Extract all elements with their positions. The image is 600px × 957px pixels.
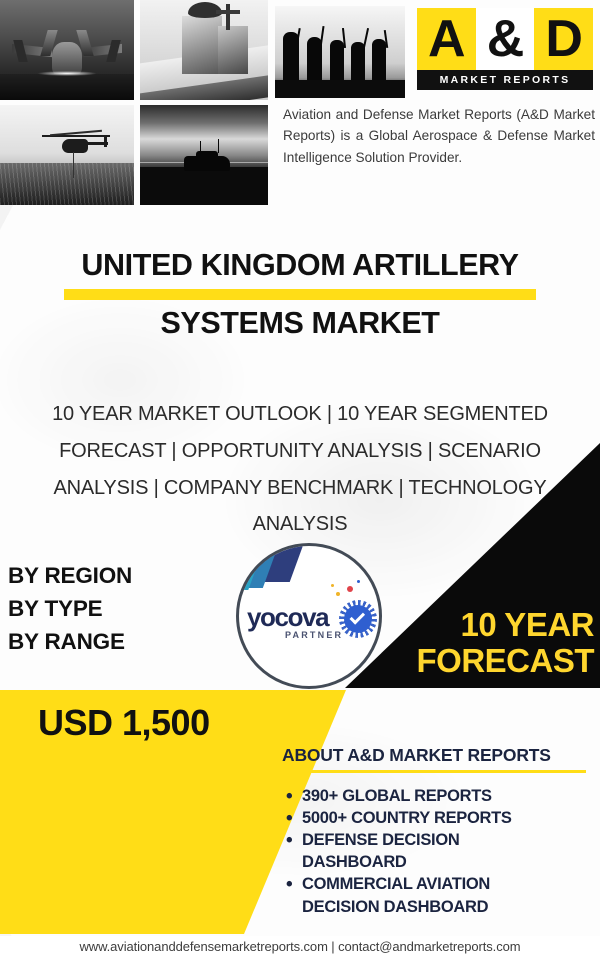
helicopter-tail-fin	[104, 135, 107, 147]
field-texture	[0, 163, 134, 205]
report-cover-poster: A & D MARKET REPORTS Aviation and Defens…	[0, 0, 600, 957]
segmentation-item-range: BY RANGE	[8, 626, 132, 659]
vehicle-antenna	[200, 141, 201, 152]
ad-market-reports-logo: A & D MARKET REPORTS	[417, 8, 593, 90]
deck-light-glow	[37, 71, 97, 76]
logo-letters-row: A & D	[417, 8, 593, 70]
about-bullet-commercial-aviation-cont: DECISION DASHBOARD	[282, 897, 592, 918]
ship-mast	[226, 4, 230, 30]
sparkle-dot	[331, 584, 334, 587]
about-bullet-country-reports: 5000+ COUNTRY REPORTS	[282, 808, 592, 829]
soldier-silhouette	[330, 40, 344, 84]
title-underline-rule	[64, 289, 536, 300]
check-mark	[350, 609, 366, 625]
seal-inner-disc	[344, 605, 372, 633]
footer-contact-bar: www.aviationanddefensemarketreports.com …	[0, 936, 600, 957]
soldier-silhouette	[283, 32, 299, 84]
carrier-deck	[0, 74, 134, 100]
yocova-partner-label: PARTNER	[285, 630, 343, 640]
photo-soldiers-silhouette-at-dusk	[275, 6, 405, 98]
vehicle-antenna	[218, 139, 219, 153]
ground	[140, 167, 268, 205]
sparkle-dot	[347, 586, 353, 592]
logo-tagline: MARKET REPORTS	[440, 74, 571, 86]
segmentation-item-region: BY REGION	[8, 560, 132, 593]
photo-armored-vehicle-at-dusk	[140, 105, 268, 205]
segmentation-item-type: BY TYPE	[8, 593, 132, 626]
logo-ampersand: &	[476, 8, 535, 70]
ship-yardarm	[216, 10, 240, 14]
helicopter-fuselage	[62, 139, 88, 153]
armored-vehicle-turret	[196, 151, 218, 158]
sparkle-dot	[357, 580, 360, 583]
yocova-wordmark: yocova	[247, 604, 339, 630]
photo-naval-warship-superstructure	[140, 0, 268, 100]
soldier-silhouette	[307, 37, 322, 84]
about-title: ABOUT A&D MARKET REPORTS	[282, 745, 592, 770]
ship-tower	[182, 16, 222, 74]
segmentation-list: BY REGION BY TYPE BY RANGE	[8, 560, 132, 659]
logo-tagline-bar: MARKET REPORTS	[417, 70, 593, 90]
ship-tower-secondary	[218, 26, 248, 74]
about-bullet-global-reports: 390+ GLOBAL REPORTS	[282, 786, 592, 807]
fast-rope	[73, 152, 74, 178]
title-line-1: UNITED KINGDOM ARTILLERY	[0, 248, 600, 284]
soldier-silhouette	[372, 39, 386, 84]
about-bullet-commercial-aviation: COMMERCIAL AVIATION	[282, 874, 592, 895]
about-bullet-list: 390+ GLOBAL REPORTS 5000+ COUNTRY REPORT…	[282, 786, 592, 918]
about-section: ABOUT A&D MARKET REPORTS 390+ GLOBAL REP…	[282, 745, 592, 919]
about-bullet-defense-decision: DEFENSE DECISION	[282, 830, 592, 851]
about-underline-rule	[282, 770, 586, 773]
about-bullet-defense-decision-cont: DASHBOARD	[282, 852, 592, 873]
logo-letter-a: A	[417, 8, 476, 70]
photo-helicopter-over-field	[0, 105, 134, 205]
terrain	[275, 80, 405, 98]
photo-fighter-jet-on-carrier-deck	[0, 0, 134, 100]
report-scope-subtitle: 10 YEAR MARKET OUTLOOK | 10 YEAR SEGMENT…	[18, 396, 582, 543]
sparkle-dot	[336, 592, 340, 596]
page-title: UNITED KINGDOM ARTILLERY SYSTEMS MARKET	[0, 248, 600, 342]
yocova-partner-badge: yocova PARTNER	[236, 543, 382, 689]
soldier-silhouette	[351, 42, 365, 84]
price-value: USD 1,500	[38, 702, 210, 744]
title-line-2: SYSTEMS MARKET	[0, 306, 600, 342]
company-intro-text: Aviation and Defense Market Reports (A&D…	[283, 104, 595, 168]
footer-contact-text[interactable]: www.aviationanddefensemarketreports.com …	[80, 939, 521, 954]
verified-check-icon	[339, 600, 377, 638]
armored-vehicle-body	[184, 156, 230, 171]
logo-letter-d: D	[534, 8, 593, 70]
